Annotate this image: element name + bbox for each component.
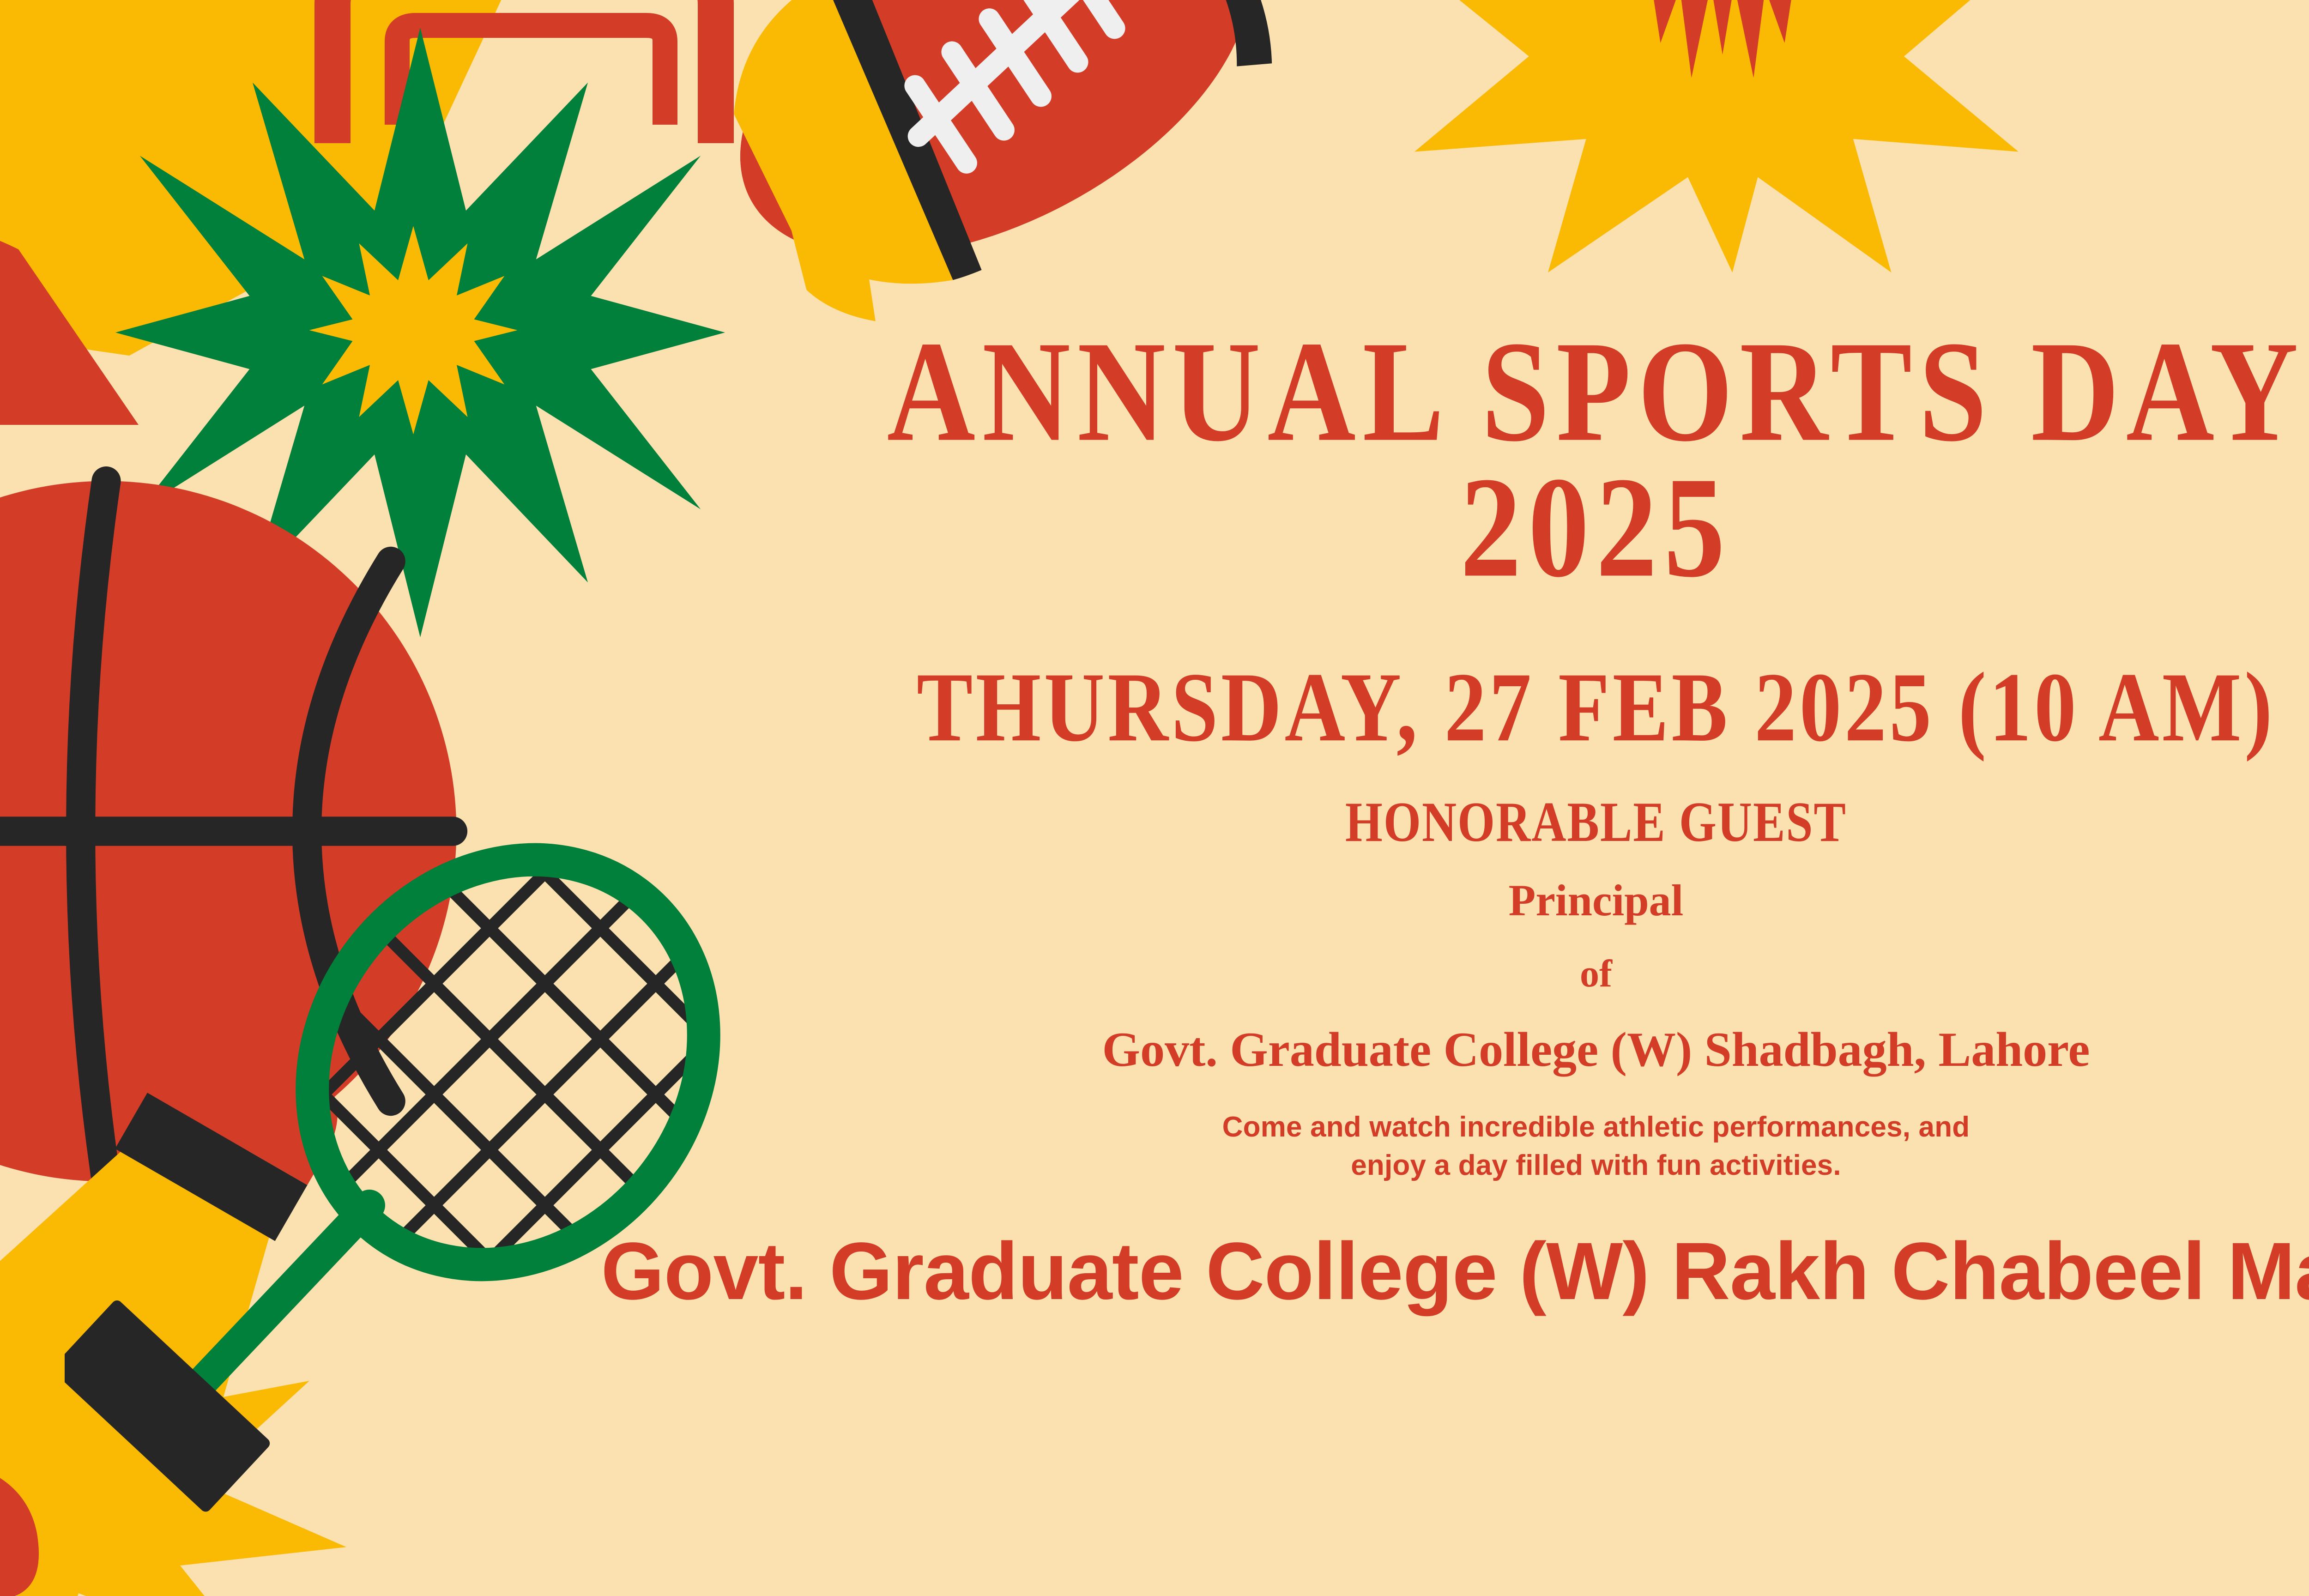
event-description-line-1: Come and watch incredible athletic perfo…	[1222, 1108, 1970, 1146]
venue-name: Govt. Graduate College (W) Rakh Chabeel …	[601, 1231, 2309, 1312]
page-title-year: 2025	[1460, 459, 1732, 596]
guest-college: Govt. Graduate College (W) Shadbagh, Lah…	[1102, 1024, 2090, 1075]
sports-day-poster: ANNUAL SPORTS DAY 2025 THURSDAY, 27 FEB …	[0, 0, 2309, 1596]
event-description-line-2: enjoy a day filled with fun activities.	[1222, 1147, 1970, 1185]
honorable-guest-label: HONORABLE GUEST	[1345, 796, 1847, 850]
guest-role: Principal	[1509, 877, 1684, 924]
page-title: ANNUAL SPORTS DAY	[887, 323, 2305, 460]
event-date: THURSDAY, 27 FEB 2025 (10 AM)	[917, 661, 2275, 755]
guest-of-connector: of	[1580, 954, 1612, 994]
event-description: Come and watch incredible athletic perfo…	[1222, 1108, 1970, 1185]
